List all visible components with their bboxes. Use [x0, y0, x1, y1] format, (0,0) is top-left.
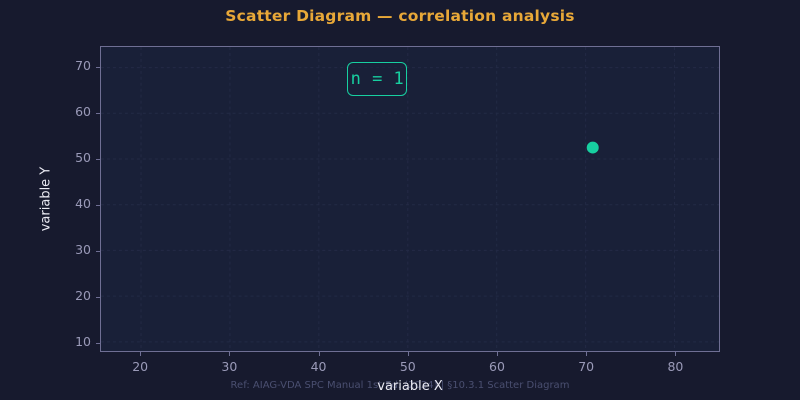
- x-tick-mark: [408, 352, 409, 356]
- y-tick-mark: [96, 251, 100, 252]
- x-axis-label: variable X: [100, 379, 720, 394]
- x-tick-label: 30: [221, 359, 237, 374]
- x-tick-mark: [586, 352, 587, 356]
- y-tick-mark: [96, 67, 100, 68]
- x-tick-label: 60: [489, 359, 505, 374]
- x-tick-label: 20: [132, 359, 148, 374]
- chart-title: Scatter Diagram — correlation analysis: [0, 7, 800, 25]
- x-tick-label: 50: [400, 359, 416, 374]
- y-axis-label: variable Y: [39, 167, 54, 232]
- y-tick-mark: [96, 159, 100, 160]
- x-tick-label: 40: [311, 359, 327, 374]
- y-tick-mark: [96, 297, 100, 298]
- y-tick-mark: [96, 205, 100, 206]
- x-tick-mark: [675, 352, 676, 356]
- data-point: [587, 142, 599, 154]
- plot-area: [100, 46, 720, 352]
- x-tick-mark: [229, 352, 230, 356]
- y-tick-mark: [96, 113, 100, 114]
- x-tick-label: 80: [667, 359, 683, 374]
- data-points-layer: [101, 47, 719, 351]
- x-tick-mark: [319, 352, 320, 356]
- x-tick-mark: [497, 352, 498, 356]
- x-tick-mark: [140, 352, 141, 356]
- x-tick-label: 70: [578, 359, 594, 374]
- scatter-chart-figure: Scatter Diagram — correlation analysis 2…: [0, 0, 800, 400]
- sample-size-annotation: n = 1: [347, 62, 407, 96]
- y-tick-mark: [96, 343, 100, 344]
